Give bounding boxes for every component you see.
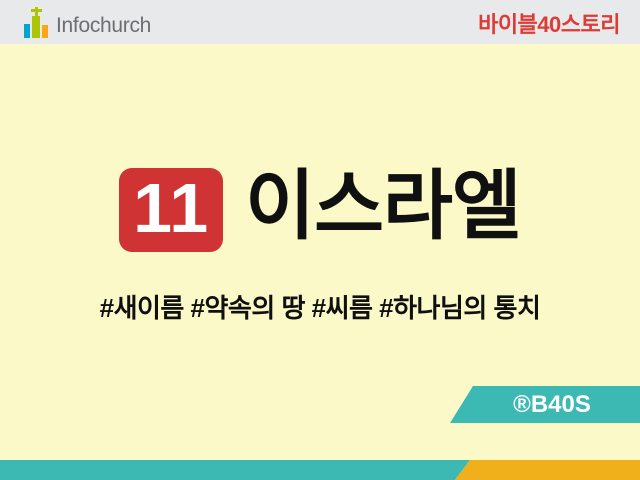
code-badge-label: ®B40S xyxy=(499,391,591,419)
page-title: 이스라엘 xyxy=(245,169,521,251)
brand-name: Infochurch xyxy=(56,15,151,38)
header-bar: Infochurch 바이블40스토리 xyxy=(0,0,640,44)
footer-bar-teal xyxy=(0,460,470,480)
church-bar-chart-logo-icon xyxy=(24,8,50,38)
lesson-number: 11 xyxy=(133,173,209,247)
title-row: 11 이스라엘 xyxy=(0,160,640,260)
footer-bar-orange xyxy=(455,460,640,480)
lesson-number-badge: 11 xyxy=(119,168,223,252)
logo-bar-blue xyxy=(24,24,30,38)
hashtag-subtitle: #새이름 #약속의 땅 #씨름 #하나님의 통치 xyxy=(0,288,640,325)
logo-bar-orange xyxy=(42,25,48,38)
brand-name-secondary: church xyxy=(90,14,151,37)
brand-logo[interactable]: Infochurch xyxy=(24,6,151,38)
slide-canvas: Infochurch 바이블40스토리 11 이스라엘 #새이름 #약속의 땅 … xyxy=(0,0,640,480)
series-title: 바이블40스토리 xyxy=(478,7,620,39)
brand-name-primary: Info xyxy=(56,14,90,37)
code-badge: ®B40S xyxy=(450,386,640,423)
cross-vertical-icon xyxy=(35,7,38,16)
logo-bar-green xyxy=(32,16,40,38)
